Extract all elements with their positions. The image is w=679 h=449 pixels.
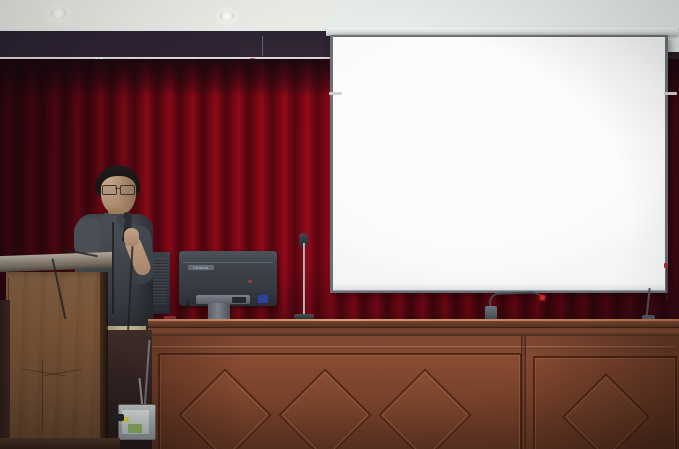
- presenter-shoulder-left: [74, 218, 100, 252]
- gooseneck-microphone-icon: [489, 291, 546, 311]
- gooseneck-microphone-led: [540, 295, 545, 300]
- glasses-lens-left: [102, 185, 117, 195]
- presenter-hand: [124, 228, 139, 246]
- presenter-shirt-placket: [112, 222, 114, 314]
- presidium-desk-face-shading: [148, 336, 679, 449]
- glasses-icon: [102, 185, 135, 193]
- handheld-microphone-head: [123, 212, 132, 220]
- screen-bottom-shading: [333, 283, 665, 291]
- screen-tab-right: [664, 92, 677, 95]
- monitor-connector-vga: [258, 295, 268, 303]
- monitor-groove: [183, 262, 273, 263]
- screen-pull-cord-knob[interactable]: [664, 263, 668, 268]
- lectern-grain-mark-center: [42, 360, 43, 430]
- lectern-wood-grain: [6, 272, 106, 449]
- presidium-desk-seam: [148, 327, 679, 328]
- ceiling-spotlight-right-icon: [219, 11, 235, 21]
- projection-screen-surface: [333, 37, 665, 290]
- monitor-brand-label: Lenovo: [188, 265, 214, 270]
- screen-tab-left: [329, 92, 342, 95]
- presidium-desk-top-highlight: [148, 319, 679, 321]
- upper-wall-band-inner: [0, 31, 240, 59]
- floor-power-plug: [110, 414, 124, 421]
- ceiling-spotlight-left-icon: [50, 8, 67, 19]
- glasses-lens-right: [120, 185, 135, 195]
- left-edge-shadow: [0, 300, 10, 449]
- lecture-hall-photo: Lenovo: [0, 0, 679, 449]
- floor-power-unit-indicator: [128, 424, 142, 433]
- monitor-connector-dark: [232, 297, 246, 303]
- gooseneck-microphone-base: [485, 306, 497, 320]
- lectern-side-shadow: [100, 272, 108, 449]
- monitor-rear-marking: [248, 280, 252, 283]
- wall-wire: [262, 36, 263, 56]
- screen-pull-cord[interactable]: [666, 265, 668, 299]
- desk-microphone-pole: [303, 243, 305, 319]
- floor-strip: [0, 438, 120, 449]
